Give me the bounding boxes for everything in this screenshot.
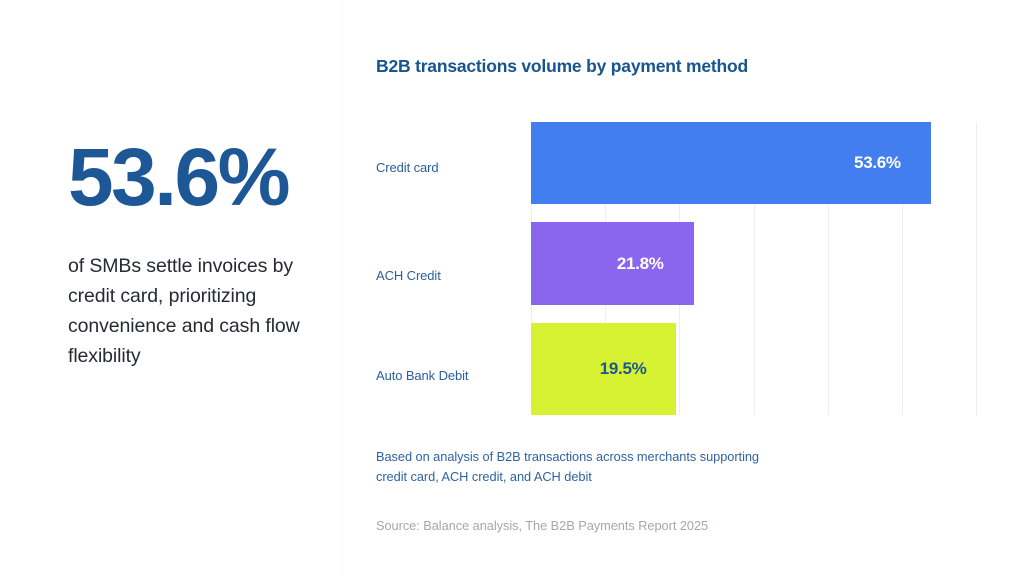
bar-row: 21.8% (531, 222, 977, 305)
stat-panel: 53.6% of SMBs settle invoices by credit … (0, 0, 342, 576)
bar-credit-card[interactable]: 53.6% (531, 122, 931, 204)
category-label: Auto Bank Debit (376, 368, 524, 383)
category-axis: Credit card ACH Credit Auto Bank Debit (376, 122, 531, 415)
chart-title: B2B transactions volume by payment metho… (376, 56, 748, 77)
chart-source: Source: Balance analysis, The B2B Paymen… (376, 517, 806, 535)
category-label: Credit card (376, 160, 524, 175)
chart-panel: B2B transactions volume by payment metho… (342, 0, 1024, 576)
bar-ach-credit[interactable]: 21.8% (531, 222, 694, 305)
bar-value-label: 19.5% (600, 359, 677, 379)
chart-note: Based on analysis of B2B transactions ac… (376, 447, 776, 487)
bar-row: 53.6% (531, 122, 977, 204)
bar-chart: Credit card ACH Credit Auto Bank Debit (376, 122, 986, 415)
headline-statistic: 53.6% (68, 139, 342, 217)
bar-value-label: 21.8% (617, 254, 694, 274)
plot-area: 53.6% 21.8% 19.5% (531, 122, 977, 415)
bar-row: 19.5% (531, 323, 977, 415)
bar-value-label: 53.6% (854, 153, 931, 173)
bar-auto-bank-debit[interactable]: 19.5% (531, 323, 676, 415)
category-label: ACH Credit (376, 268, 524, 283)
headline-description: of SMBs settle invoices by credit card, … (68, 251, 316, 371)
infographic-slide: 53.6% of SMBs settle invoices by credit … (0, 0, 1024, 576)
bar-series: 53.6% 21.8% 19.5% (531, 122, 977, 415)
